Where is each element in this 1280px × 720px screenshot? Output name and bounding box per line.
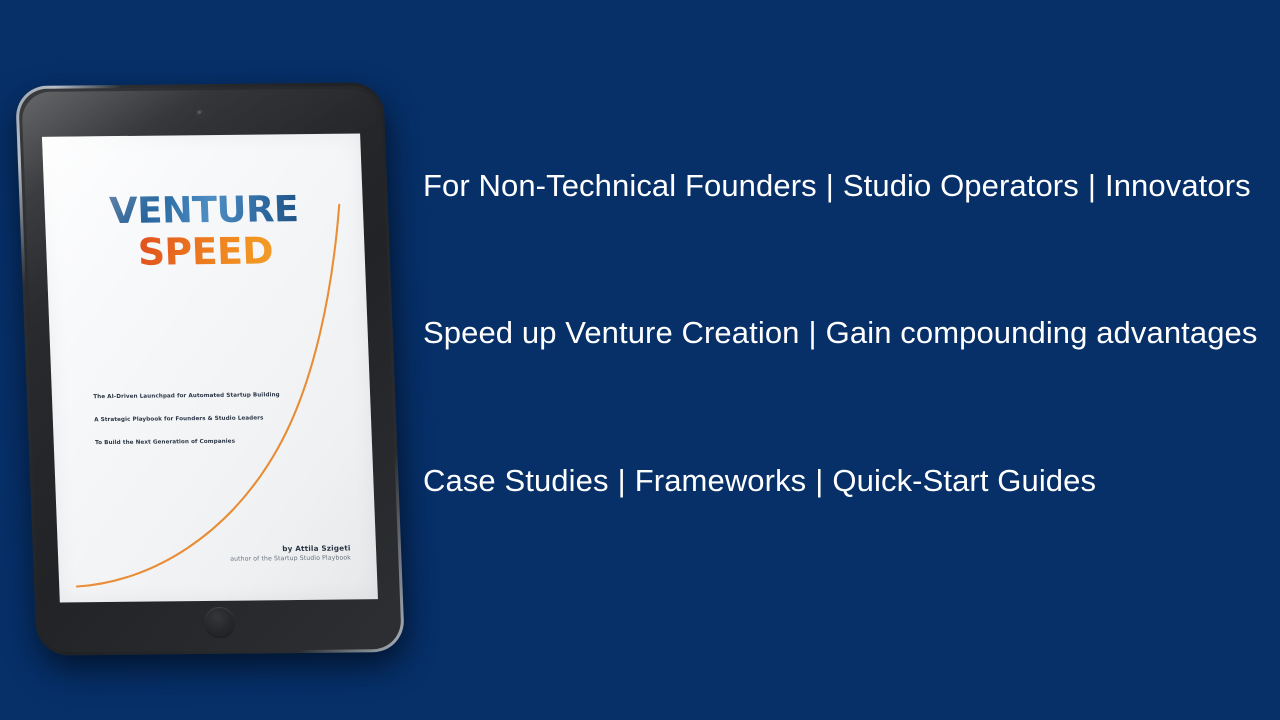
marketing-copy-block: For Non-Technical Founders|Studio Operat… xyxy=(423,170,1280,496)
copy-separator: | xyxy=(609,465,635,496)
camera-icon xyxy=(197,110,203,116)
cover-title-speed: SPEED xyxy=(43,231,369,271)
copy-segment: Frameworks xyxy=(635,463,807,498)
tablet-body: VENTURE SPEED The AI-Driven Launchpad fo… xyxy=(15,82,405,655)
copy-segment: Innovators xyxy=(1105,168,1251,203)
copy-line-value-proposition: Speed up Venture Creation|Gain compoundi… xyxy=(423,317,1280,348)
tablet-bezel: VENTURE SPEED The AI-Driven Launchpad fo… xyxy=(18,85,402,652)
copy-segment: Quick-Start Guides xyxy=(832,463,1096,498)
cover-tagline: A Strategic Playbook for Founders & Stud… xyxy=(94,415,281,423)
tablet-device-mockup: VENTURE SPEED The AI-Driven Launchpad fo… xyxy=(15,82,405,655)
cover-tagline-list: The AI-Driven Launchpad for Automated St… xyxy=(93,392,282,463)
copy-segment: For Non-Technical Founders xyxy=(423,168,817,203)
cover-tagline: To Build the Next Generation of Companie… xyxy=(95,438,282,446)
book-cover-artwork: VENTURE SPEED The AI-Driven Launchpad fo… xyxy=(42,134,378,603)
copy-segment: Gain compounding advantages xyxy=(826,315,1258,350)
copy-segment: Case Studies xyxy=(423,463,609,498)
cover-title-venture: VENTURE xyxy=(42,191,367,230)
copy-separator: | xyxy=(1079,170,1105,201)
copy-separator: | xyxy=(806,465,832,496)
copy-line-audience: For Non-Technical Founders|Studio Operat… xyxy=(423,170,1280,201)
slide-canvas: VENTURE SPEED The AI-Driven Launchpad fo… xyxy=(0,0,1280,720)
copy-separator: | xyxy=(800,317,826,348)
author-name: by Attila Szigeti xyxy=(230,543,351,553)
copy-separator: | xyxy=(817,170,843,201)
copy-segment: Speed up Venture Creation xyxy=(423,315,800,350)
cover-tagline: The AI-Driven Launchpad for Automated St… xyxy=(93,392,280,400)
cover-author-block: by Attila Szigeti author of the Startup … xyxy=(230,543,351,562)
cover-title-block: VENTURE SPEED xyxy=(44,191,365,271)
author-credit: author of the Startup Studio Playbook xyxy=(230,554,351,562)
copy-line-contents: Case Studies|Frameworks|Quick-Start Guid… xyxy=(423,465,1280,496)
copy-segment: Studio Operators xyxy=(843,168,1079,203)
home-button-icon[interactable] xyxy=(204,607,235,637)
